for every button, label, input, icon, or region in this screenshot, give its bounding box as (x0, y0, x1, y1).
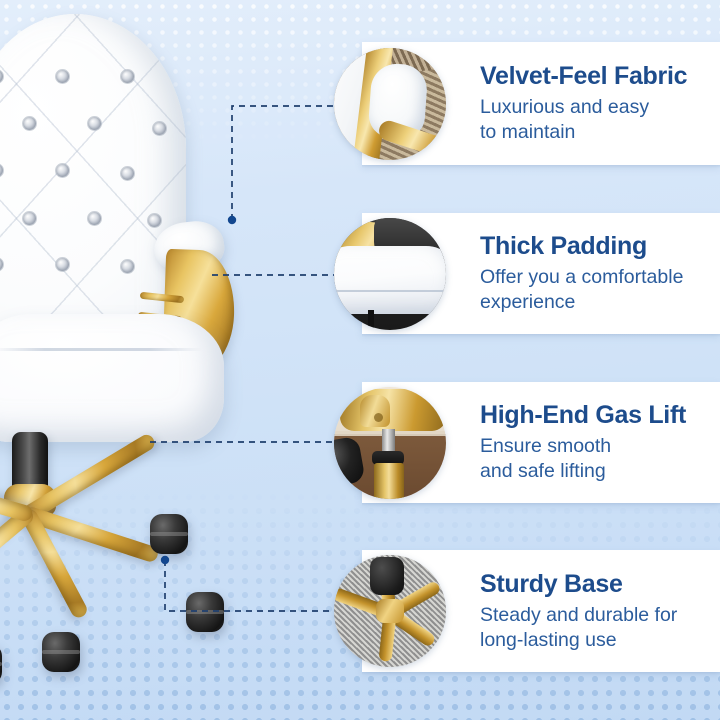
chair-seat (0, 314, 224, 442)
feature-title: Thick Padding (480, 232, 683, 260)
tufting-button (56, 164, 69, 177)
panel-shadow (362, 334, 720, 337)
feature-title: High-End Gas Lift (480, 401, 686, 429)
thumbnail-velvet-feel-fabric (334, 48, 446, 160)
seat-crease (0, 348, 202, 351)
chair-caster-wheel (42, 632, 80, 672)
tufting-button (56, 70, 69, 83)
thumbnail-thick-padding (334, 218, 446, 330)
panel-shadow (362, 503, 720, 506)
tufting-button (23, 212, 36, 225)
tufting-button (121, 70, 134, 83)
tufting-button (88, 117, 101, 130)
chair-caster-wheel (0, 644, 2, 684)
chair-caster-wheel (150, 514, 188, 554)
panel-thick-padding[interactable]: Thick Padding Offer you a comfortable ex… (362, 213, 720, 334)
tufting-button (121, 167, 134, 180)
feature-description: Luxurious and easy to maintain (480, 95, 687, 145)
tufting-button (153, 122, 166, 135)
tufting-button (148, 214, 161, 227)
panel-sturdy-base[interactable]: Sturdy Base Steady and durable for long-… (362, 550, 720, 672)
feature-title: Sturdy Base (480, 570, 677, 598)
tufting-button (56, 258, 69, 271)
feature-description: Offer you a comfortable experience (480, 265, 683, 315)
feature-description: Ensure smooth and safe lifting (480, 434, 686, 484)
chair-caster-wheel (186, 592, 224, 632)
tufting-button (121, 260, 134, 273)
product-image-office-chair (0, 14, 298, 720)
panel-shadow (362, 672, 720, 675)
tufting-button (88, 212, 101, 225)
feature-title: Velvet-Feel Fabric (480, 62, 687, 90)
thumbnail-high-end-gas-lift (334, 387, 446, 499)
thumbnail-sturdy-base (334, 555, 446, 667)
tufting-button (23, 117, 36, 130)
panel-high-end-gas-lift[interactable]: High-End Gas Lift Ensure smooth and safe… (362, 382, 720, 503)
panel-velvet-feel-fabric[interactable]: Velvet-Feel Fabric Luxurious and easy to… (362, 42, 720, 165)
feature-description: Steady and durable for long-lasting use (480, 603, 677, 653)
panel-shadow (362, 165, 720, 168)
